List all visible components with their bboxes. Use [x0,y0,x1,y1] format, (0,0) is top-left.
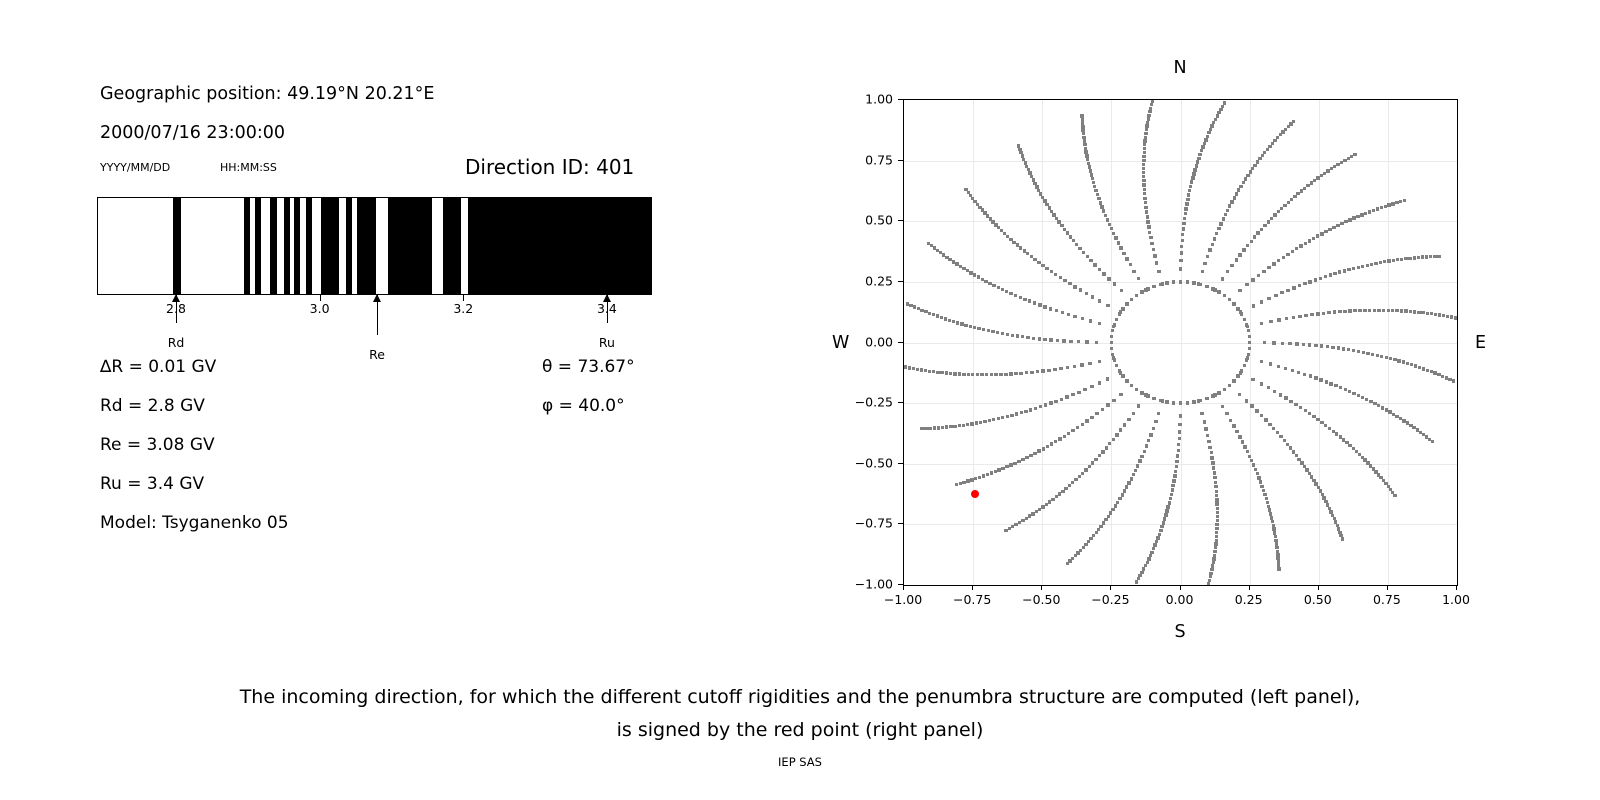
direction-point [1033,258,1036,261]
direction-point [1153,254,1156,257]
direction-point [1063,228,1066,231]
direction-point [1066,562,1069,565]
direction-point [933,246,936,249]
direction-point [1437,255,1440,258]
direction-point [955,483,958,486]
direction-point [1339,386,1342,389]
direction-point [1238,289,1241,292]
direction-point [960,322,963,325]
direction-point [1179,267,1182,270]
direction-point [1031,512,1034,515]
direction-point [1143,147,1146,150]
direction-point [1343,310,1346,313]
direction-point [1392,259,1395,262]
direction-point [1260,485,1263,488]
direction-point [1211,461,1214,464]
direction-point [962,373,965,376]
direction-point [985,373,988,376]
direction-point [1011,525,1014,528]
direction-point-inner-ring [1135,294,1138,297]
direction-point [1203,262,1206,265]
direction-point [1395,309,1398,312]
direction-point [959,265,962,268]
direction-point [1215,494,1218,497]
direction-point [1326,345,1329,348]
direction-point [1238,393,1241,396]
direction-point [1009,238,1012,241]
direction-point [1329,382,1332,385]
direction-point [1267,386,1270,389]
direction-point [1217,227,1220,230]
direction-point-inner-ring [1217,290,1220,293]
direction-point [1171,484,1174,487]
y-tick-mark [898,220,903,221]
direction-point [1433,255,1436,258]
direction-point [1414,364,1417,367]
gridline-horizontal [904,343,1457,344]
direction-point [1253,164,1256,167]
direction-point [1263,224,1266,227]
direction-point [1331,346,1334,349]
parameter-row: Rd = 2.8 GV [100,396,205,416]
direction-point [1216,515,1219,518]
direction-point [1039,192,1042,195]
direction-point [1151,100,1154,103]
direction-point [1316,418,1319,421]
direction-point [1171,488,1174,491]
direction-point [1210,456,1213,459]
direction-point [904,365,907,368]
direction-point [1093,263,1096,266]
direction-point [1073,285,1076,288]
x-tick-label: −0.75 [953,592,991,607]
direction-point [1184,212,1187,215]
direction-point [1250,404,1253,407]
direction-point [1140,455,1143,458]
direction-point [1081,472,1084,475]
direction-point [917,307,920,310]
direction-point [1376,207,1379,210]
penumbra-forbidden-band [468,198,651,294]
direction-point [1396,258,1399,261]
direction-point [908,366,911,369]
direction-point [1030,255,1033,258]
direction-point [1425,255,1428,258]
direction-point [1204,427,1207,430]
direction-point [1081,125,1084,128]
direction-point [1357,394,1360,397]
direction-point [1304,409,1307,412]
direction-point [1214,485,1217,488]
direction-point [1409,310,1412,313]
direction-point [1052,213,1055,216]
direction-point [1387,259,1390,262]
direction-point [1221,277,1224,280]
direction-point-inner-ring [1186,401,1189,404]
direction-point [1082,132,1085,135]
direction-point [1235,430,1238,433]
direction-point [1029,454,1032,457]
direction-point [1085,419,1088,422]
direction-point [1256,160,1259,163]
x-tick-mark [972,585,973,590]
direction-point [1155,261,1158,264]
direction-point [1115,433,1118,436]
direction-point [1075,243,1078,246]
direction-point [1143,197,1146,200]
right-panel: N S W E 1.000.750.500.250.00−0.25−0.50−0… [820,0,1520,660]
penumbra-forbidden-band [284,198,290,294]
direction-point [939,251,942,254]
direction-point [989,217,992,220]
direction-point [1018,521,1021,524]
direction-point [1265,497,1268,500]
direction-point [1223,101,1226,104]
direction-point [1027,168,1030,171]
direction-point [1051,498,1054,501]
direction-point [1101,450,1104,453]
direction-point [1137,277,1140,280]
y-tick-label: −0.25 [841,395,893,410]
direction-point [1062,339,1065,342]
direction-point-inner-ring [1243,364,1246,367]
direction-point-inner-ring [1247,353,1250,356]
direction-point [1170,493,1173,496]
direction-point [1048,500,1051,503]
direction-point [1422,367,1425,370]
direction-point [1061,490,1064,493]
direction-point [997,226,1000,229]
direction-point [1201,145,1204,148]
direction-point [1149,107,1152,110]
direction-point [1035,185,1038,188]
direction-point [1190,180,1193,183]
direction-point [1063,435,1066,438]
direction-point [1001,332,1004,335]
direction-point [1019,151,1022,154]
direction-point [1177,449,1180,452]
direction-point [1059,367,1062,370]
direction-point [1009,463,1012,466]
direction-point [1380,355,1383,358]
direction-point [1226,270,1229,273]
direction-point [1262,270,1265,273]
direction-point [1277,567,1280,570]
y-tick-mark [898,402,903,403]
direction-point [1286,289,1289,292]
direction-point [1276,431,1279,434]
direction-point [1016,243,1019,246]
direction-point [1322,312,1325,315]
direction-point [928,427,931,430]
direction-point [1336,224,1339,227]
direction-point [1327,311,1330,314]
direction-point [1413,310,1416,313]
direction-point [1089,169,1092,172]
direction-point [1152,248,1155,251]
direction-point [1137,404,1140,407]
direction-scatter-plot [903,99,1458,586]
direction-point [1098,360,1101,363]
direction-point [1060,224,1063,227]
left-panel: Geographic position: 49.19°N 20.21°E 200… [0,0,780,640]
direction-point [962,424,965,427]
direction-point [1271,142,1274,145]
selected-direction-point[interactable] [971,490,979,498]
direction-point [1395,201,1398,204]
direction-point [1105,446,1108,449]
direction-point [1068,484,1071,487]
direction-point [1069,235,1072,238]
direction-point [1192,172,1195,175]
direction-point [1004,529,1007,532]
direction-point [1397,359,1400,362]
direction-point-inner-ring [1159,283,1162,286]
direction-point [1189,185,1192,188]
direction-point [1404,309,1407,312]
direction-point-inner-ring [1223,388,1226,391]
direction-point [1091,177,1094,180]
penumbra-forbidden-band [173,198,180,294]
y-tick-label: 1.00 [841,92,893,107]
direction-point [1214,481,1217,484]
direction-point [1294,403,1297,406]
direction-point [959,482,962,485]
direction-point [1055,495,1058,498]
figure-root: Geographic position: 49.19°N 20.21°E 200… [0,0,1600,800]
direction-point [1302,343,1305,346]
direction-point [941,426,944,429]
direction-point [1049,307,1052,310]
direction-point [1197,157,1200,160]
direction-point [1019,372,1022,375]
direction-point [1233,196,1236,199]
direction-point [1106,377,1109,380]
direction-point [1065,395,1068,398]
direction-point [1046,445,1049,448]
direction-point [1320,344,1323,347]
direction-point [994,470,997,473]
direction-point [1108,223,1111,226]
direction-point-inner-ring [1186,280,1189,283]
direction-point [1083,143,1086,146]
direction-point [1069,340,1072,343]
direction-point [981,208,984,211]
direction-point [986,214,989,217]
direction-point [932,370,935,373]
direction-point [1269,320,1272,323]
direction-point [1147,117,1150,120]
direction-point [1266,501,1269,504]
direction-point [1106,218,1109,221]
direction-point [1017,460,1020,463]
direction-point [1135,580,1138,583]
direction-point [1249,170,1252,173]
direction-point [1066,366,1069,369]
direction-point [1201,270,1204,273]
direction-point [1177,443,1180,446]
direction-point [1120,289,1123,292]
direction-point [962,481,965,484]
direction-point [1248,455,1251,458]
direction-point [1089,319,1092,322]
direction-point [1266,148,1269,151]
direction-point [1015,412,1018,415]
direction-point-inner-ring [1165,281,1168,284]
direction-point-inner-ring [1247,329,1250,332]
direction-point [924,427,927,430]
x-tick-mark [1387,585,1388,590]
direction-point [1352,349,1355,352]
direction-point [1138,459,1141,462]
direction-point [1272,262,1275,265]
direction-point-inner-ring [1113,323,1116,326]
caption-line-2: is signed by the red point (right panel) [0,719,1600,741]
direction-point [1368,309,1371,312]
y-tick-label: 0.00 [841,334,893,349]
direction-point-inner-ring [1205,285,1208,288]
direction-point [1059,276,1062,279]
direction-point [991,330,994,333]
direction-point-inner-ring [1211,394,1214,397]
y-tick-mark [898,523,903,524]
direction-point [1087,162,1090,165]
direction-point [1001,288,1004,291]
direction-point [949,372,952,375]
direction-point [1033,452,1036,455]
direction-point [1373,402,1376,405]
direction-point [1332,226,1335,229]
direction-point [1032,178,1035,181]
direction-point [1152,427,1155,430]
direction-point [1077,391,1080,394]
direction-point [1050,270,1053,273]
direction-point [1269,362,1272,365]
direction-point [927,242,930,245]
direction-point [1094,458,1097,461]
direction-point [1085,154,1088,157]
direction-point-inner-ring [1179,401,1182,404]
direction-point [1071,481,1074,484]
direction-point [1260,382,1263,385]
direction-point [1206,135,1209,138]
direction-point [1041,196,1044,199]
direction-point [966,479,969,482]
direction-point [1215,527,1218,530]
marker-label: Rd [168,335,185,350]
direction-point [1292,120,1295,123]
direction-point [932,313,935,316]
x-tick-mark [1180,585,1181,590]
direction-point [977,275,980,278]
direction-point [1314,376,1317,379]
direction-point-inner-ring [1245,358,1248,361]
direction-point [1288,342,1291,345]
direction-point [1147,225,1150,228]
direction-point [1226,209,1229,212]
direction-point [1216,519,1219,522]
direction-point [1277,318,1280,321]
direction-point [1389,357,1392,360]
direction-point [916,368,919,371]
direction-point [1421,255,1424,258]
direction-point [1366,264,1369,267]
direction-point [1088,165,1091,168]
direction-point [1235,192,1238,195]
rigidity-tick-label: 3.2 [453,301,473,316]
direction-point [952,320,955,323]
direction-point [1254,468,1257,471]
y-tick-mark [898,281,903,282]
gridline-horizontal [904,221,1457,222]
direction-point [1063,279,1066,282]
direction-point [983,211,986,214]
direction-point-inner-ring [1240,369,1243,372]
direction-point [1144,136,1147,139]
caption-line-1: The incoming direction, for which the di… [0,686,1600,708]
direction-point [1286,253,1289,256]
direction-point [1054,440,1057,443]
direction-point [1338,270,1341,273]
penumbra-forbidden-band [321,198,340,294]
direction-point [1086,255,1089,258]
direction-point [1404,257,1407,260]
direction-point [1048,206,1051,209]
direction-point [1279,435,1282,438]
direction-point [1142,163,1145,166]
direction-point [1450,315,1453,318]
direction-point [1353,153,1356,156]
direction-point [1021,335,1024,338]
direction-point [991,220,994,223]
direction-point [1132,270,1135,273]
direction-point [1039,405,1042,408]
direction-point [952,260,955,263]
direction-point [1049,338,1052,341]
direction-point [1009,372,1012,375]
direction-point [1230,264,1233,267]
direction-point [1112,232,1115,235]
direction-point [1329,273,1332,276]
direction-point [1024,161,1027,164]
direction-point [1021,519,1024,522]
direction-point [1050,210,1053,213]
direction-point [1142,175,1145,178]
parameter-row: φ = 40.0° [542,396,625,416]
direction-point [1408,257,1411,260]
direction-point-inner-ring [1245,323,1248,326]
parameter-row: Ru = 3.4 GV [100,474,204,494]
direction-point [1224,213,1227,216]
x-tick-mark [1318,585,1319,590]
direction-point [940,371,943,374]
direction-point [1191,176,1194,179]
direction-point [1366,352,1369,355]
direction-point-inner-ring [1199,283,1202,286]
direction-point [1164,513,1167,516]
y-tick-label: −0.50 [841,455,893,470]
direction-point [1292,316,1295,319]
direction-point [1025,456,1028,459]
direction-point [982,474,985,477]
x-tick-mark [1110,585,1111,590]
direction-point [973,200,976,203]
direction-point [1316,312,1319,315]
direction-point [1251,167,1254,170]
direction-point [1369,400,1372,403]
direction-point [1077,340,1080,343]
direction-point [1229,419,1232,422]
